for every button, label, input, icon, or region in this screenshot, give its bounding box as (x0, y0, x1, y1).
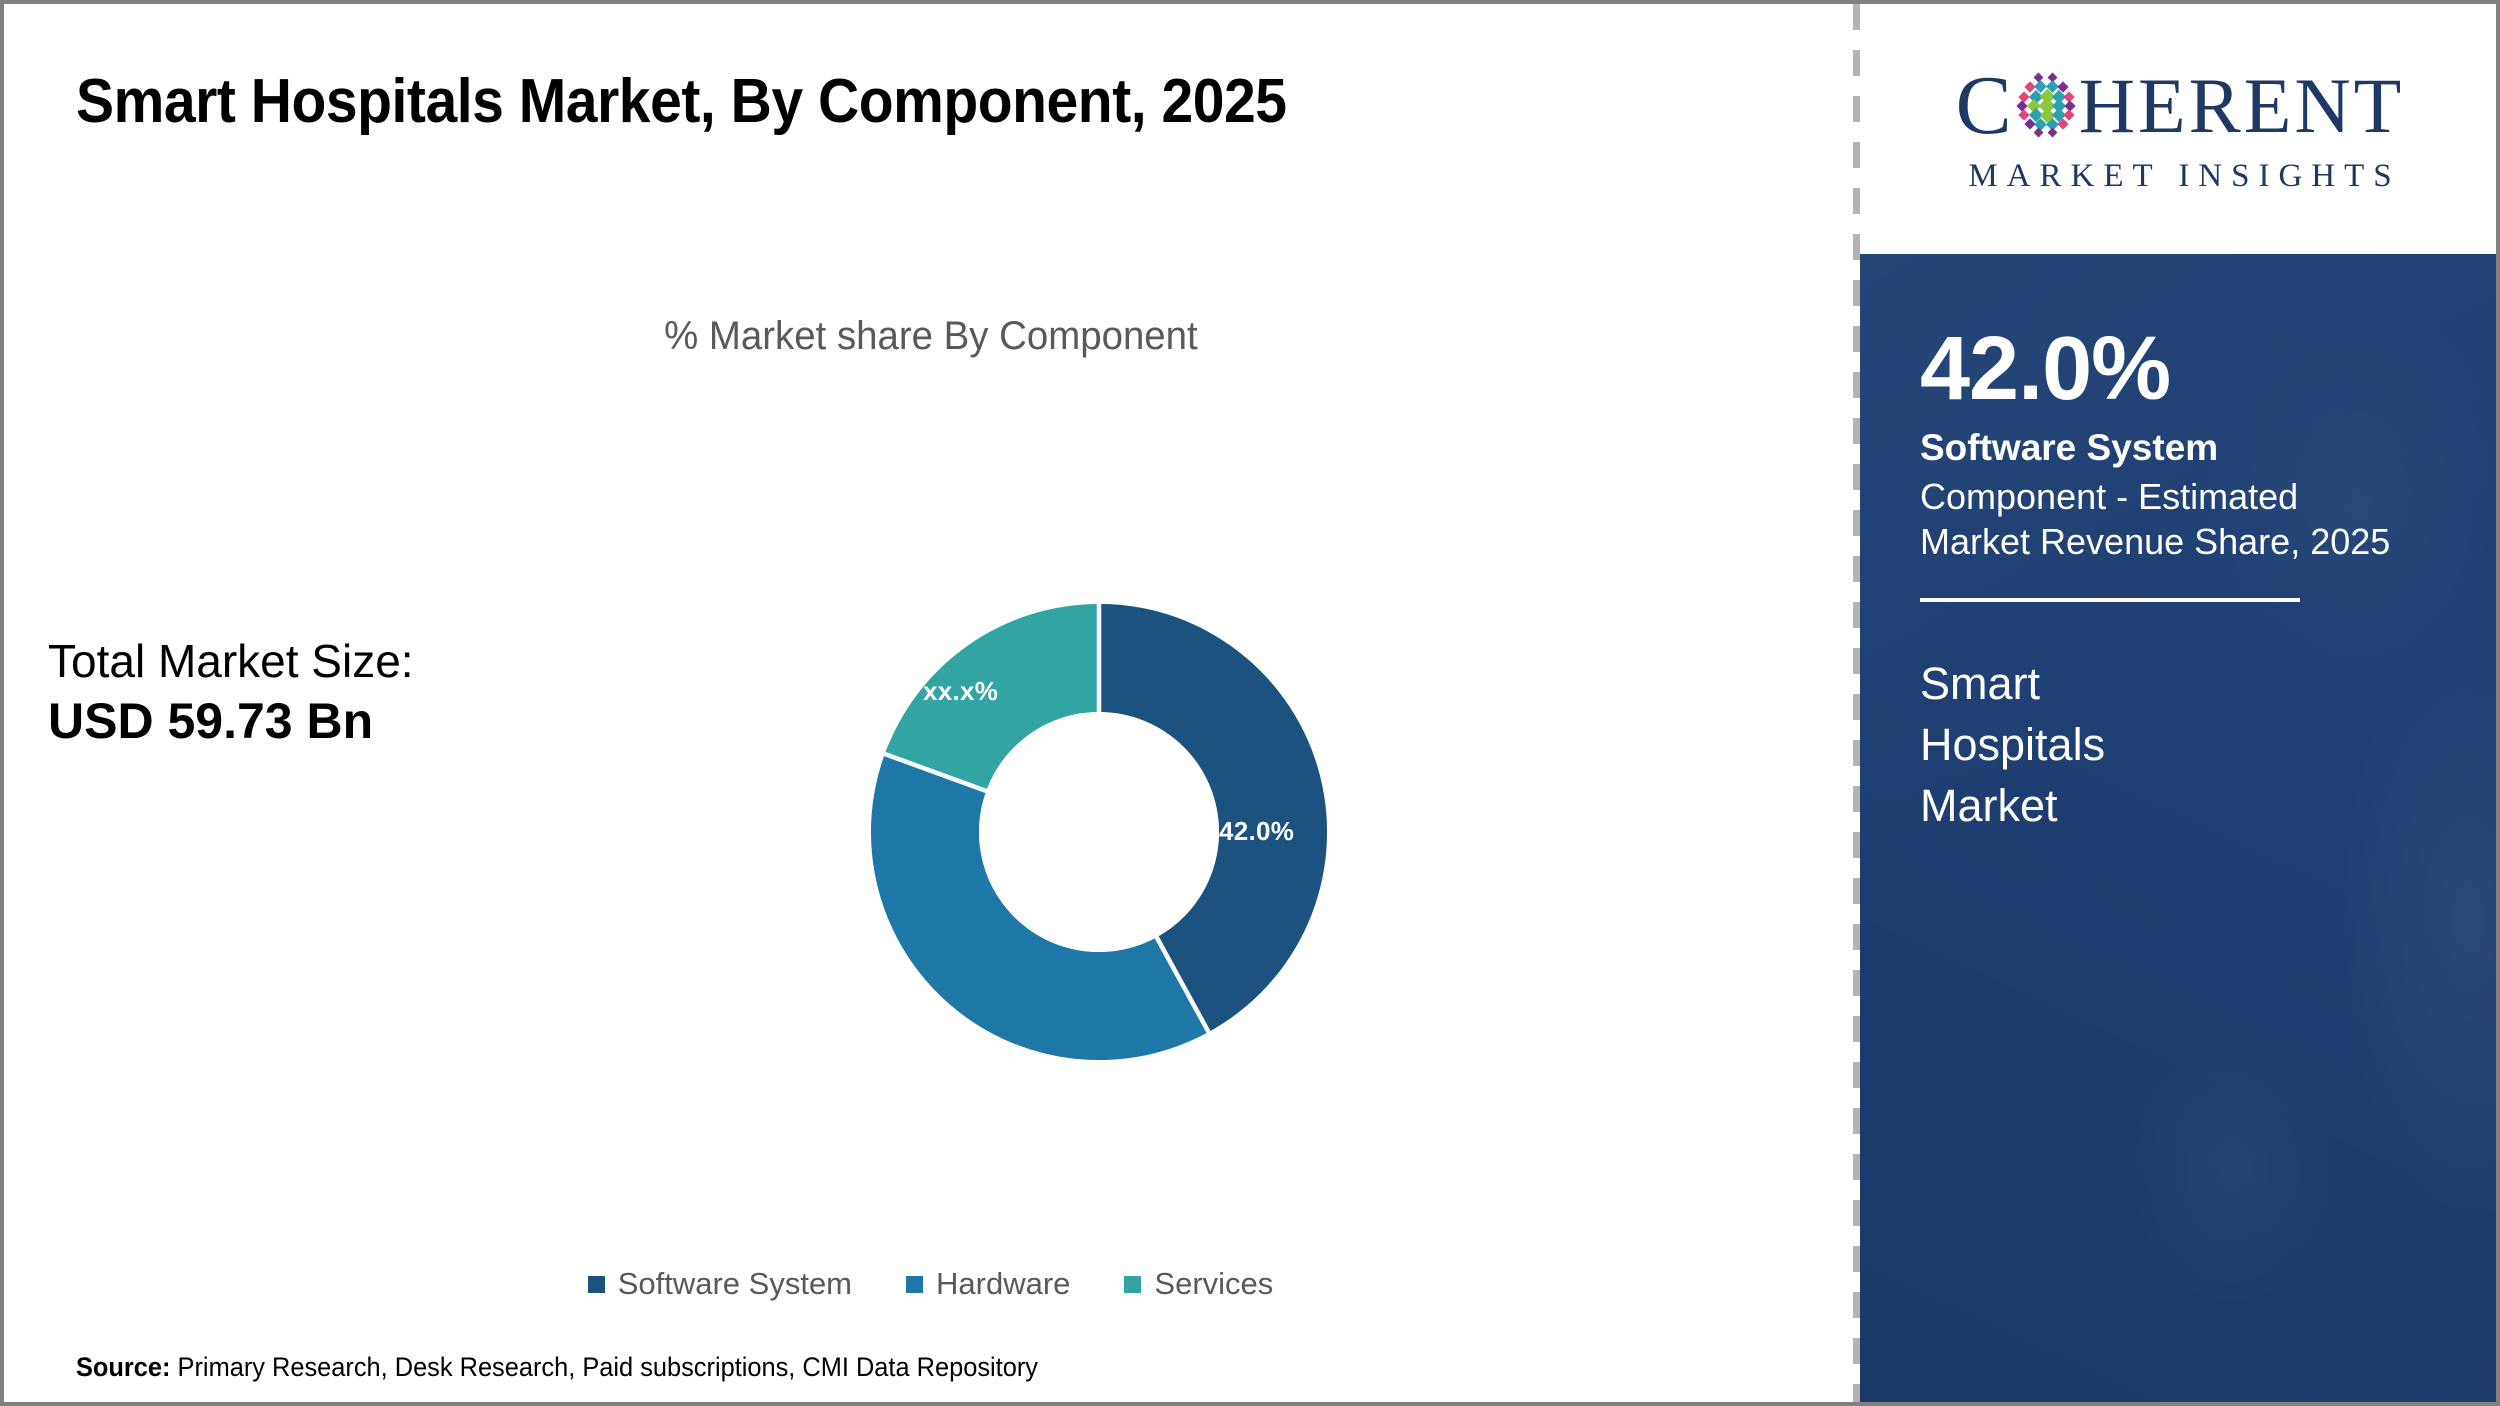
vertical-dashed-divider (1853, 4, 1860, 1402)
globe-sphere-svg (2015, 69, 2077, 143)
legend-item-services[interactable]: Services (1124, 1266, 1273, 1302)
legend-label: Hardware (936, 1266, 1070, 1302)
panel-divider (1920, 598, 2300, 602)
stat-description: Component - Estimated Market Revenue Sha… (1920, 474, 2400, 565)
chart-subtitle: % Market share By Component (4, 314, 1857, 359)
source-line: Source: Primary Research, Desk Research,… (76, 1352, 1038, 1383)
legend-item-hardware[interactable]: Hardware (906, 1266, 1070, 1302)
market-name: Smart Hospitals Market (1920, 654, 2220, 836)
right-column: C (1860, 4, 2500, 1402)
brand-logo[interactable]: C (1860, 4, 2500, 254)
total-market-size-label: Total Market Size: (48, 634, 414, 688)
stat-value: 42.0% (1920, 324, 2454, 414)
source-text: Primary Research, Desk Research, Paid su… (170, 1352, 1037, 1382)
total-market-size-value: USD 59.73 Bn (48, 692, 414, 751)
highlight-panel-content: 42.0% Software System Component - Estima… (1920, 324, 2454, 837)
main-content-area: Smart Hospitals Market, By Component, 20… (4, 4, 1857, 1402)
stat-segment-name: Software System (1920, 426, 2454, 470)
chart-legend: Software System Hardware Services (4, 1266, 1857, 1302)
logo-wordmark: C (1956, 64, 2405, 148)
donut-label-services: xx.x% (923, 676, 998, 707)
logo-letter-c: C (1956, 64, 2015, 148)
donut-hole (979, 712, 1219, 952)
page-title: Smart Hospitals Market, By Component, 20… (76, 66, 1287, 137)
legend-label: Software System (618, 1266, 852, 1302)
donut-label-hardware: xx.x% (843, 982, 918, 1013)
donut-label-software-system: 42.0% (1219, 816, 1294, 847)
donut-chart: 42.0% xx.x% xx.x% (871, 604, 1327, 1060)
total-market-size-block: Total Market Size: USD 59.73 Bn (48, 634, 414, 751)
logo-subtitle: MARKET INSIGHTS (1959, 158, 2400, 195)
legend-item-software-system[interactable]: Software System (588, 1266, 852, 1302)
legend-swatch-icon (588, 1276, 605, 1293)
legend-label: Services (1154, 1266, 1273, 1302)
legend-swatch-icon (906, 1276, 923, 1293)
logo-letters-herent: HERENT (2079, 67, 2405, 145)
source-label: Source: (76, 1352, 170, 1382)
chart-subtitle-text: % Market share By Component (664, 314, 1198, 359)
infographic-canvas: Smart Hospitals Market, By Component, 20… (0, 0, 2500, 1406)
globe-sphere-icon (2015, 69, 2077, 143)
legend-swatch-icon (1124, 1276, 1141, 1293)
highlight-panel: 42.0% Software System Component - Estima… (1860, 254, 2500, 1402)
